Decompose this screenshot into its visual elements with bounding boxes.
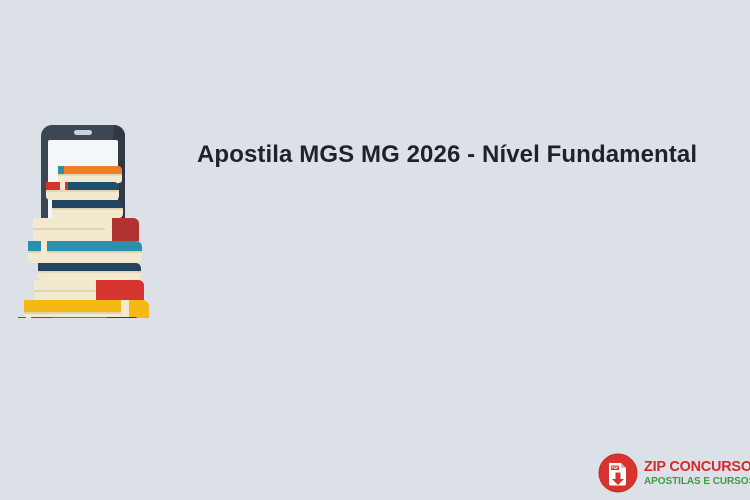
brand-subtitle: APOSTILAS E CURSOS [644,475,750,488]
book-8-yellow [24,300,149,318]
book-stack-illustration [8,118,178,318]
book-6-navy-slim [38,263,141,280]
page-title: Apostila MGS MG 2026 - Nível Fundamental [197,139,697,171]
brand-text-block: ZIP CONCURSOS APOSTILAS E CURSOS [644,459,750,488]
book-3-navy [52,200,123,218]
brand-title: ZIP CONCURSOS [644,459,750,475]
book-9-teal [18,317,141,318]
book-top-orange [58,166,122,183]
svg-text:PDF: PDF [612,466,619,470]
book-7-crimson [34,280,144,301]
book-2-red-teal [46,182,119,200]
book-stack-svg [8,118,178,318]
book-4-red [33,218,139,241]
book-5-teal [28,241,142,263]
page-root: Apostila MGS MG 2026 - Nível Fundamental… [0,0,750,500]
pdf-download-icon: PDF [598,453,638,493]
brand-logo[interactable]: PDF ZIP CONCURSOS APOSTILAS E CURSOS [598,450,744,496]
